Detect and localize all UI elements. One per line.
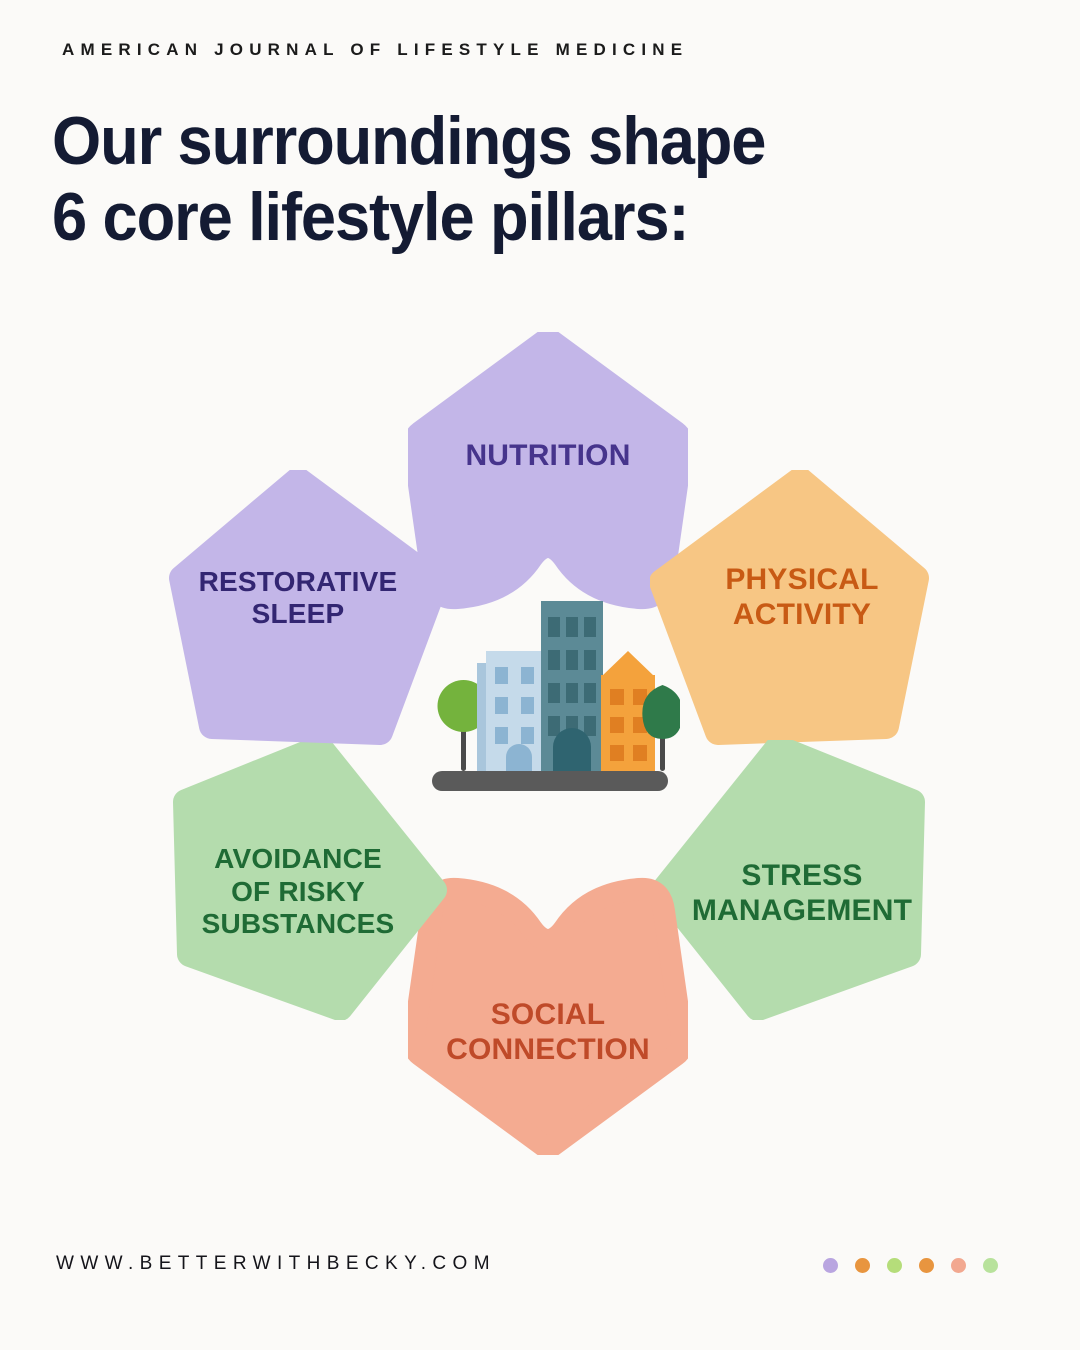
- page-title: Our surroundings shape 6 core lifestyle …: [52, 103, 765, 255]
- footer-dot-4: [919, 1258, 934, 1273]
- building-tower: [541, 601, 603, 773]
- lifestyle-pillars-diagram: NUTRITION PHYSICAL ACTIVITY STRESS MANAG…: [150, 340, 950, 1140]
- pillar-avoidance-risky-substances[interactable]: AVOIDANCE OF RISKY SUBSTANCES: [168, 740, 448, 1020]
- pillar-label-restorative-sleep: RESTORATIVE SLEEP: [199, 566, 398, 631]
- pillar-physical-activity[interactable]: PHYSICAL ACTIVITY: [650, 470, 930, 750]
- building-left: [477, 651, 546, 773]
- footer-dot-1: [823, 1258, 838, 1273]
- pillar-social-connection[interactable]: SOCIAL CONNECTION: [408, 875, 688, 1155]
- footer-dot-6: [983, 1258, 998, 1273]
- pillar-label-avoidance-risky-substances: AVOIDANCE OF RISKY SUBSTANCES: [202, 843, 395, 940]
- pillar-nutrition[interactable]: NUTRITION: [408, 332, 688, 612]
- city-illustration: [420, 585, 680, 800]
- pillar-label-physical-activity: PHYSICAL ACTIVITY: [725, 563, 878, 633]
- ground-bar: [432, 771, 668, 791]
- pillar-stress-management[interactable]: STRESS MANAGEMENT: [650, 740, 930, 1020]
- footer-dot-3: [887, 1258, 902, 1273]
- footer-website-url[interactable]: WWW.BETTERWITHBECKY.COM: [56, 1253, 496, 1275]
- journal-eyebrow: AMERICAN JOURNAL OF LIFESTYLE MEDICINE: [62, 40, 688, 60]
- pillar-label-stress-management: STRESS MANAGEMENT: [692, 859, 912, 929]
- pillar-restorative-sleep[interactable]: RESTORATIVE SLEEP: [168, 470, 448, 750]
- footer-dot-5: [951, 1258, 966, 1273]
- footer-dot-2: [855, 1258, 870, 1273]
- pillar-label-nutrition: NUTRITION: [465, 439, 630, 474]
- footer-dots: [823, 1258, 998, 1273]
- pillar-label-social-connection: SOCIAL CONNECTION: [446, 998, 650, 1068]
